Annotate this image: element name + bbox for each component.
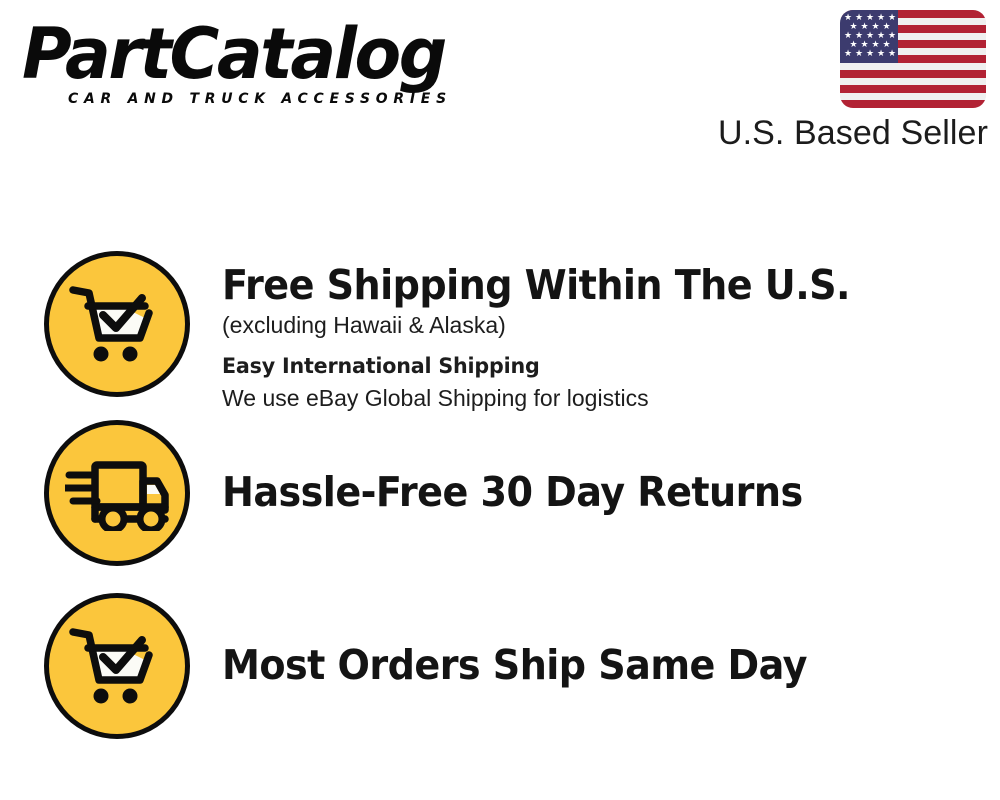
flag-stripe [840,100,986,108]
flag-stripe [840,85,986,93]
shopping-cart-check-icon [44,593,190,739]
flag-stripe [840,78,986,86]
flag-stripe [840,93,986,101]
feature-text-block: Free Shipping Within The U.S. (excluding… [222,261,982,414]
page-header: PartCatalog CAR AND TRUCK ACCESSORIES ★ … [0,0,1000,170]
feature-subdetail: We use eBay Global Shipping for logistic… [222,382,982,414]
feature-title: Free Shipping Within The U.S. [222,261,929,309]
feature-text-block: Hassle-Free 30 Day Returns [222,468,982,516]
flag-stripe [840,63,986,71]
feature-title: Most Orders Ship Same Day [222,641,929,689]
brand-logo[interactable]: PartCatalog CAR AND TRUCK ACCESSORIES [22,18,492,113]
feature-title: Hassle-Free 30 Day Returns [222,468,929,516]
feature-row: Hassle-Free 30 Day Returns [0,420,1000,592]
brand-wordmark: PartCatalog [22,18,445,90]
feature-row: Free Shipping Within The U.S. (excluding… [0,251,1000,419]
flag-stripe [840,70,986,78]
us-based-seller-label: U.S. Based Seller [600,113,988,153]
us-flag-graphic: ★ ★ ★ ★ ★ ★ ★ ★ ★ ★ ★ ★ ★ ★ ★ ★ ★ ★ ★ ★ [840,10,986,108]
feature-text-block: Most Orders Ship Same Day [222,641,982,689]
feature-subnote: (excluding Hawaii & Alaska) [222,309,982,341]
feature-subheading: Easy International Shipping [222,352,952,382]
us-flag-icon: ★ ★ ★ ★ ★ ★ ★ ★ ★ ★ ★ ★ ★ ★ ★ ★ ★ ★ ★ ★ [840,10,986,108]
feature-list: Free Shipping Within The U.S. (excluding… [0,170,1000,800]
feature-row: Most Orders Ship Same Day [0,593,1000,765]
shopping-cart-check-icon [44,251,190,397]
delivery-truck-icon [44,420,190,566]
flag-stars: ★ ★ ★ ★ ★ ★ ★ ★ ★ ★ ★ ★ ★ ★ ★ ★ ★ ★ ★ ★ [840,10,898,63]
brand-tagline: CAR AND TRUCK ACCESSORIES [68,91,452,107]
